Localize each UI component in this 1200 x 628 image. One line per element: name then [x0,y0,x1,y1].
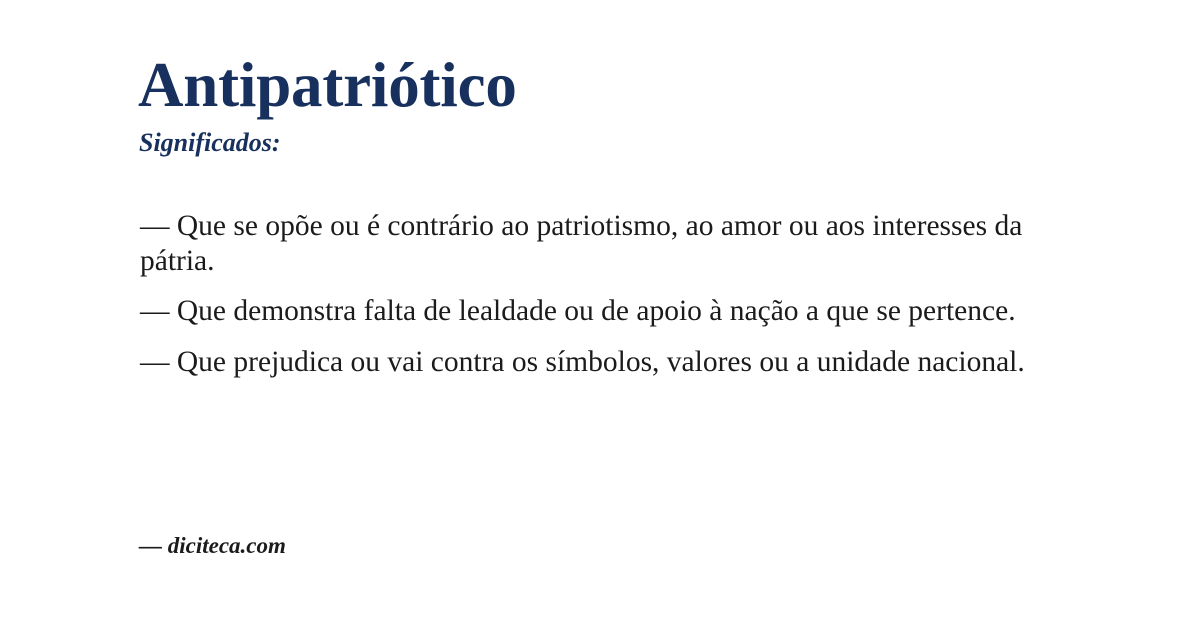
definition-item: — Que demonstra falta de lealdade ou de … [140,294,1065,329]
attribution-source: diciteca.com [168,533,286,558]
definition-item: — Que se opõe ou é contrário ao patrioti… [140,209,1065,278]
definition-dash-marker: — [140,210,170,242]
page-title: Antipatriótico [138,53,517,117]
definition-text: Que demonstra falta de lealdade ou de ap… [177,295,1016,327]
definition-dash-marker: — [140,346,170,378]
dictionary-entry-card: Antipatriótico Significados: — Que se op… [0,0,1200,628]
definition-text: Que prejudica ou vai contra os símbolos,… [177,346,1025,378]
meanings-section-label: Significados: [139,128,281,158]
definition-text: Que se opõe ou é contrário ao patriotism… [140,210,1022,277]
definition-item: — Que prejudica ou vai contra os símbolo… [140,345,1065,380]
attribution-dash-marker: — [139,533,162,558]
source-attribution: — diciteca.com [139,532,286,560]
definitions-list: — Que se opõe ou é contrário ao patrioti… [140,209,1065,379]
definition-dash-marker: — [140,295,170,327]
